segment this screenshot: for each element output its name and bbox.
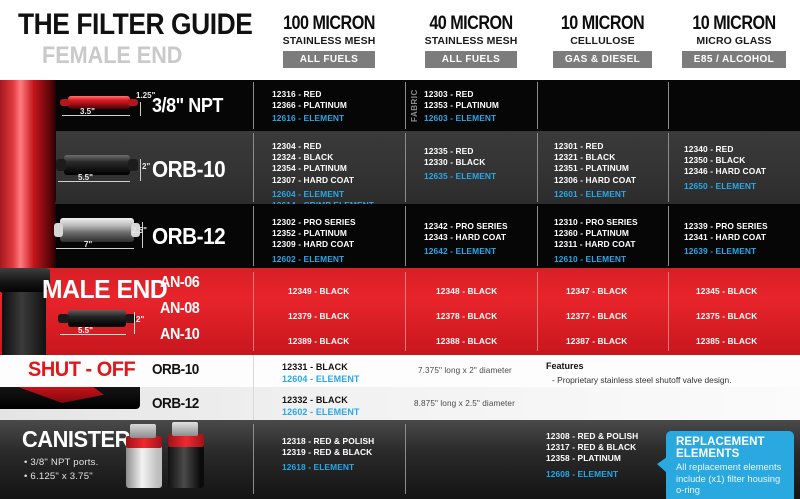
element-code: 12604 - ELEMENT: [272, 189, 374, 200]
column-divider: [537, 272, 538, 351]
filter-endcap-left: [54, 223, 63, 237]
dimension-line-length: [60, 334, 126, 335]
column-header-40-micron: 40 MICRON STAINLESS MESH ALL FUELS: [405, 14, 537, 68]
column-material-label: MICRO GLASS: [668, 35, 800, 47]
part-code: 12332 - BLACK: [282, 394, 360, 406]
part-code: 12352 - PLATINUM: [272, 228, 356, 239]
canister-bracket-polish: [130, 424, 156, 438]
part-code: 12342 - PRO SERIES: [424, 221, 508, 232]
column-fuel-badge: ALL FUELS: [283, 51, 375, 68]
cell-codes-canister-cellulose: 12308 - RED & POLISH 12317 - RED & BLACK…: [546, 431, 638, 480]
section-subtitle-female-end: FEMALE END: [42, 42, 182, 70]
table-row-female-npt[interactable]: 3.5" 1.25" 3/8" NPT 12316 - RED 12366 - …: [0, 80, 800, 131]
column-divider: [668, 272, 669, 351]
part-code: 12331 - BLACK: [282, 361, 360, 373]
element-code: 12642 - ELEMENT: [424, 246, 508, 257]
callout-line-2: include (x1) filter housing o-ring: [676, 473, 785, 496]
column-header-10-micron-cellulose: 10 MICRON CELLULOSE GAS & DIESEL: [537, 14, 668, 68]
column-material-label: STAINLESS MESH: [405, 35, 537, 47]
part-code: 12341 - HARD COAT: [684, 232, 768, 243]
dimension-diameter-label: 2.5": [132, 226, 147, 235]
filter-image-orb12: [60, 218, 134, 242]
filter-endcap-left: [56, 159, 66, 171]
part-code: 12350 - BLACK: [684, 155, 766, 166]
element-code: 12608 - ELEMENT: [546, 469, 638, 480]
part-code: 12309 - HARD COAT: [272, 239, 356, 250]
column-fuel-badge: E85 / ALCOHOL: [682, 51, 786, 68]
part-code: 12375 - BLACK: [696, 304, 768, 329]
table-body: 3.5" 1.25" 3/8" NPT 12316 - RED 12366 - …: [0, 80, 800, 499]
filter-image-orb10: [64, 155, 130, 175]
cell-codes-100micron: 12316 - RED 12366 - PLATINUM 12616 - ELE…: [272, 89, 347, 125]
column-divider: [253, 272, 254, 351]
dimension-length-label: 5.5": [78, 326, 93, 335]
shutoff-dimensions: 7.375" long x 2" diameter: [418, 366, 512, 375]
column-divider: [668, 206, 669, 266]
part-code: 12330 - BLACK: [424, 157, 496, 168]
part-code: 12354 - PLATINUM: [272, 163, 374, 174]
part-code: 12318 - RED & POLISH: [282, 436, 374, 447]
cell-codes-male-cellulose: 12347 - BLACK 12377 - BLACK 12387 - BLAC…: [566, 279, 638, 355]
bullet-item: • 3/8" NPT ports.: [24, 456, 99, 470]
filter-guide-page: THE FILTER GUIDE FEMALE END 100 MICRON S…: [0, 0, 800, 499]
part-code: 12307 - HARD COAT: [272, 175, 374, 186]
dimension-line-diameter: [134, 312, 135, 334]
part-code: 12303 - RED: [424, 89, 499, 100]
column-divider: [537, 82, 538, 129]
cell-codes-10micron-cellulose: 12301 - RED 12321 - BLACK 12351 - PLATIN…: [554, 141, 636, 200]
canister-art-left: [0, 204, 60, 268]
element-code: 12603 - ELEMENT: [424, 113, 499, 124]
column-divider: [668, 133, 669, 202]
canister-image-polish: [126, 442, 162, 488]
dimension-line-diameter: [140, 102, 141, 116]
part-code: 12347 - BLACK: [566, 279, 638, 304]
element-code: 12618 - ELEMENT: [282, 462, 374, 473]
part-code: 12308 - RED & POLISH: [546, 431, 638, 442]
feature-item: - Proprietary stainless steel shutoff va…: [552, 374, 746, 387]
part-code: 12310 - PRO SERIES: [554, 217, 638, 228]
column-material-label: CELLULOSE: [537, 35, 668, 47]
column-divider: [405, 424, 406, 494]
row-size-label: ORB-12: [152, 395, 199, 412]
cell-codes-10micron-cellulose: 12310 - PRO SERIES 12360 - PLATINUM 1231…: [554, 217, 638, 265]
row-size-label: 3/8" NPT: [152, 95, 223, 118]
column-divider: [405, 272, 406, 351]
column-header-10-micron-micro-glass: 10 MICRON MICRO GLASS E85 / ALCOHOL: [668, 14, 800, 68]
row-size-label-an10: AN-10: [160, 326, 199, 344]
part-code: 12385 - BLACK: [696, 329, 768, 354]
part-code: 12304 - RED: [272, 141, 374, 152]
column-micron-label: 10 MICRON: [547, 14, 658, 34]
row-size-label-an08: AN-08: [160, 300, 199, 318]
part-code: 12345 - BLACK: [696, 279, 768, 304]
column-divider: [253, 355, 254, 387]
part-code: 12324 - BLACK: [272, 152, 374, 163]
cell-codes-canister-100micron: 12318 - RED & POLISH 12319 - RED & BLACK…: [282, 436, 374, 474]
dimension-line-length: [62, 115, 130, 116]
row-size-label: ORB-10: [152, 361, 199, 378]
cell-codes-40micron: 12303 - RED 12353 - PLATINUM 12603 - ELE…: [424, 89, 499, 125]
column-divider: [253, 424, 254, 494]
canister-art-left: [0, 80, 60, 131]
part-code: 12343 - HARD COAT: [424, 232, 508, 243]
dimension-length-label: 3.5": [80, 107, 95, 116]
dimension-line-diameter: [140, 159, 141, 181]
part-code: 12319 - RED & BLACK: [282, 447, 374, 458]
part-code: 12389 - BLACK: [288, 329, 360, 354]
table-row-shutoff-orb10[interactable]: SHUT - OFF ORB-10 12331 - BLACK 12604 - …: [0, 355, 800, 387]
element-code: 12604 - ELEMENT: [282, 373, 360, 385]
section-label-canister: CANISTER: [22, 426, 130, 453]
part-code: 12351 - PLATINUM: [554, 163, 636, 174]
part-code: 12349 - BLACK: [288, 279, 360, 304]
section-male-end[interactable]: MALE END 5.5" 2" AN-06 AN-08 AN-10 12349…: [0, 268, 800, 355]
part-code: 12378 - BLACK: [436, 304, 508, 329]
column-divider: [405, 82, 406, 129]
element-code: 12602 - ELEMENT: [282, 406, 360, 418]
cell-codes-100micron: 12302 - PRO SERIES 12352 - PLATINUM 1230…: [272, 217, 356, 265]
column-micron-label: 10 MICRON: [678, 14, 790, 34]
column-micron-label: 40 MICRON: [415, 14, 527, 34]
cell-codes-40micron: 12342 - PRO SERIES 12343 - HARD COAT 126…: [424, 221, 508, 258]
column-divider: [405, 133, 406, 202]
filter-image-npt: [68, 96, 130, 109]
element-code: 12650 - ELEMENT: [684, 181, 766, 192]
table-row-female-orb12[interactable]: 7" 2.5" ORB-12 12302 - PRO SERIES 12352 …: [0, 204, 800, 268]
filter-endcap-left: [60, 99, 70, 106]
part-code: 12321 - BLACK: [554, 152, 636, 163]
column-material-label: STAINLESS MESH: [253, 35, 405, 47]
dimension-diameter-label: 2": [142, 162, 150, 171]
column-divider: [537, 133, 538, 202]
shutoff-dimensions: 8.875" long x 2.5" diameter: [414, 399, 515, 408]
callout-line-1: All replacement elements: [676, 461, 785, 473]
column-divider: [253, 206, 254, 266]
part-code: 12302 - PRO SERIES: [272, 217, 356, 228]
callout-title: REPLACEMENT ELEMENTS: [676, 436, 785, 460]
canister-bullets: • 3/8" NPT ports. • 6.125" x 3.75": [24, 456, 99, 484]
part-code: 12379 - BLACK: [288, 304, 360, 329]
element-code: 12635 - ELEMENT: [424, 171, 496, 182]
filter-endcap-left: [58, 314, 69, 323]
features-list: - Proprietary stainless steel shutoff va…: [552, 374, 746, 387]
part-code: 12366 - PLATINUM: [272, 100, 347, 111]
part-code: 12306 - HARD COAT: [554, 175, 636, 186]
page-title: THE FILTER GUIDE: [18, 8, 252, 42]
column-fuel-badge: GAS & DIESEL: [553, 51, 652, 68]
cell-codes-shutoff: 12332 - BLACK 12602 - ELEMENT: [282, 394, 360, 418]
table-row-shutoff-orb12[interactable]: ORB-12 12332 - BLACK 12602 - ELEMENT 8.8…: [0, 387, 800, 420]
dimension-line-length: [56, 248, 134, 249]
dimension-diameter-label: 2": [136, 315, 144, 324]
canister-art-left: [0, 131, 60, 204]
part-code: 12348 - BLACK: [436, 279, 508, 304]
element-code: 12639 - ELEMENT: [684, 246, 768, 257]
column-divider: [668, 82, 669, 129]
part-code: 12311 - HARD COAT: [554, 239, 638, 250]
replacement-elements-callout: REPLACEMENT ELEMENTS All replacement ele…: [666, 431, 794, 499]
column-divider: [253, 387, 254, 420]
callout-tail-icon: [657, 457, 667, 473]
part-code: 12360 - PLATINUM: [554, 228, 638, 239]
features-title: Features: [546, 361, 584, 371]
cell-codes-shutoff: 12331 - BLACK 12604 - ELEMENT: [282, 361, 360, 385]
canister-image-black: [168, 442, 204, 488]
cell-codes-male-microglass: 12345 - BLACK 12375 - BLACK 12385 - BLAC…: [696, 279, 768, 355]
column-divider: [405, 206, 406, 266]
filter-endcap-right: [128, 99, 138, 106]
header: THE FILTER GUIDE FEMALE END 100 MICRON S…: [0, 0, 800, 80]
part-code: 12377 - BLACK: [566, 304, 638, 329]
filter-image-male: [68, 310, 126, 327]
cell-codes-10micron-microglass: 12340 - RED 12350 - BLACK 12346 - HARD C…: [684, 144, 766, 192]
column-micron-label: 100 MICRON: [264, 14, 393, 34]
part-code: 12353 - PLATINUM: [424, 100, 499, 111]
dimension-line-length: [58, 181, 130, 182]
column-divider: [537, 206, 538, 266]
row-size-label: ORB-12: [152, 223, 225, 250]
filter-endcap-right: [128, 159, 138, 171]
row-size-label-an06: AN-06: [160, 274, 199, 292]
part-code: 12335 - RED: [424, 146, 496, 157]
part-code: 12339 - PRO SERIES: [684, 221, 768, 232]
column-divider: [253, 133, 254, 202]
fabric-label: FABRIC: [410, 88, 419, 122]
part-code: 12387 - BLACK: [566, 329, 638, 354]
dimension-length-label: 5.5": [78, 173, 93, 182]
column-divider: [253, 82, 254, 129]
section-label-shut-off: SHUT - OFF: [28, 358, 135, 382]
row-size-label: ORB-10: [152, 156, 225, 183]
canister-bracket-black: [172, 422, 198, 436]
column-header-100-micron: 100 MICRON STAINLESS MESH ALL FUELS: [253, 14, 405, 68]
cell-codes-male-100micron: 12349 - BLACK 12379 - BLACK 12389 - BLAC…: [288, 279, 360, 355]
part-code: 12358 - PLATINUM: [546, 453, 638, 464]
element-code: 12602 - ELEMENT: [272, 254, 356, 265]
section-label-male-end: MALE END: [42, 274, 167, 305]
element-code: 12616 - ELEMENT: [272, 113, 347, 124]
column-fuel-badge: ALL FUELS: [425, 51, 517, 68]
cell-codes-100micron: 12304 - RED 12324 - BLACK 12354 - PLATIN…: [272, 141, 374, 204]
bullet-item: • 6.125" x 3.75": [24, 470, 99, 484]
cell-codes-10micron-microglass: 12339 - PRO SERIES 12341 - HARD COAT 126…: [684, 221, 768, 258]
table-row-female-orb10[interactable]: 5.5" 2" ORB-10 12304 - RED 12324 - BLACK…: [0, 131, 800, 204]
part-code: 12340 - RED: [684, 144, 766, 155]
part-code: 12316 - RED: [272, 89, 347, 100]
part-code: 12346 - HARD COAT: [684, 166, 766, 177]
part-code: 12388 - BLACK: [436, 329, 508, 354]
cell-codes-40micron: 12335 - RED 12330 - BLACK 12635 - ELEMEN…: [424, 146, 496, 183]
section-canister[interactable]: CANISTER • 3/8" NPT ports. • 6.125" x 3.…: [0, 420, 800, 499]
dimension-length-label: 7": [84, 240, 92, 249]
part-code: 12317 - RED & BLACK: [546, 442, 638, 453]
part-code: 12301 - RED: [554, 141, 636, 152]
element-code: 12610 - ELEMENT: [554, 254, 638, 265]
cell-codes-male-40micron: 12348 - BLACK 12378 - BLACK 12388 - BLAC…: [436, 279, 508, 355]
element-code: 12601 - ELEMENT: [554, 189, 636, 200]
